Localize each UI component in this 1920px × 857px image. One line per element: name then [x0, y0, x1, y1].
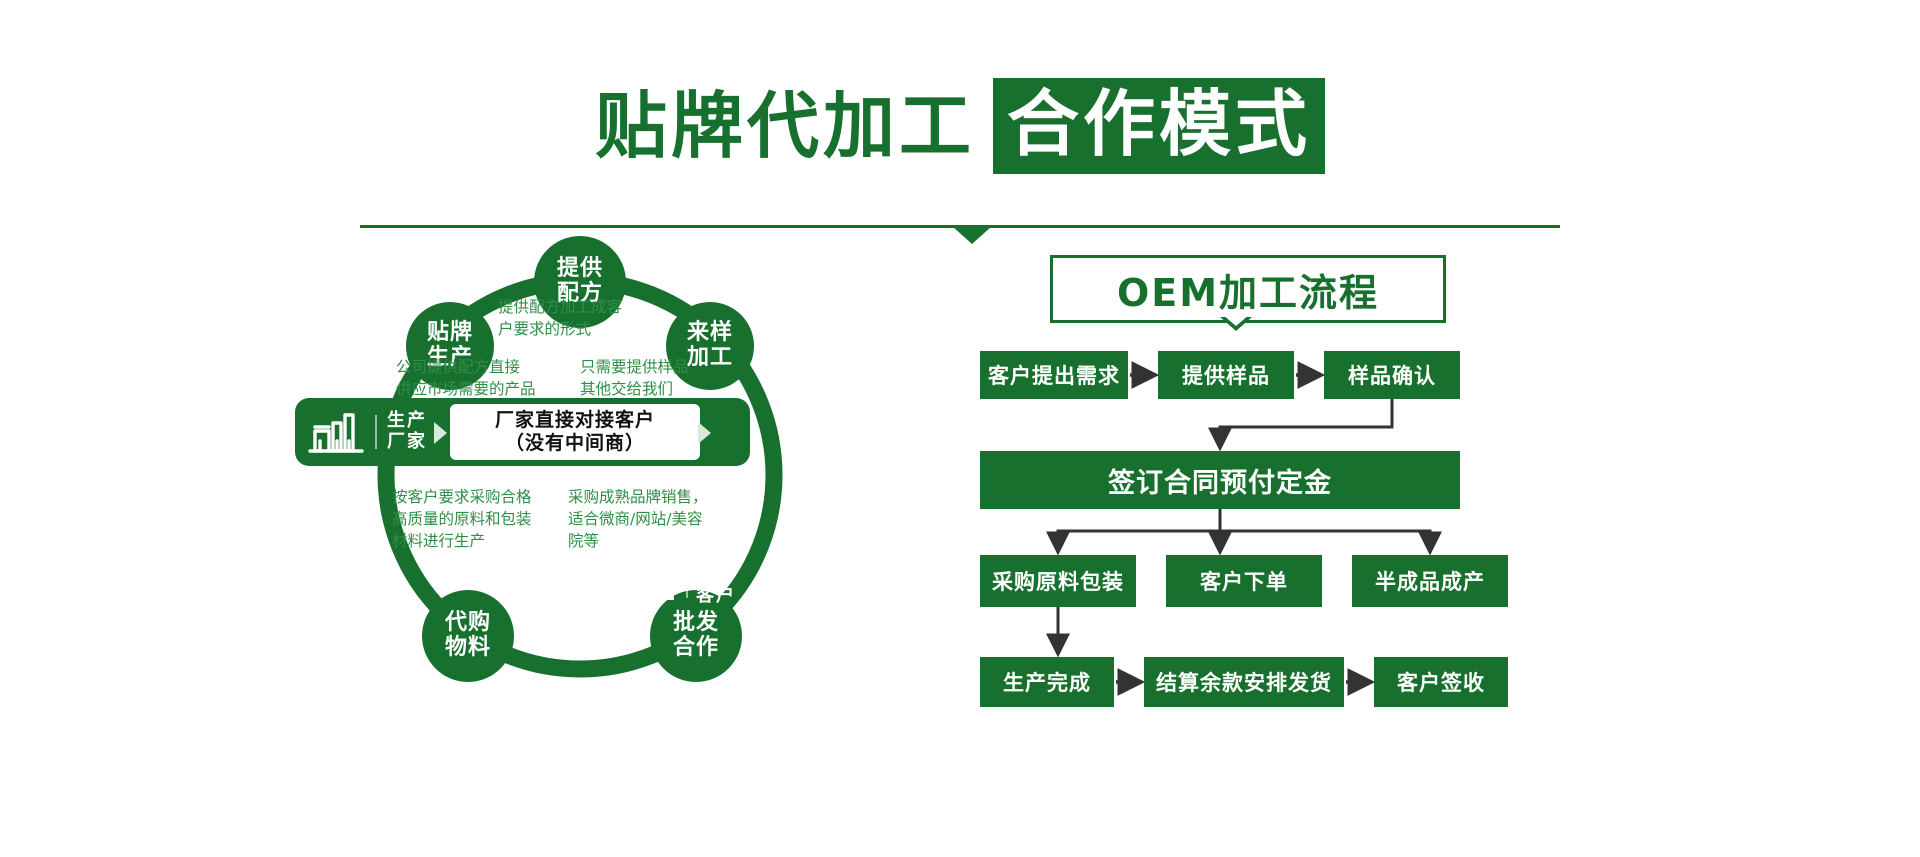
flow-box-customer-order[interactable]: 客户下单: [1166, 555, 1322, 607]
title-plain-text: 贴牌代加工: [595, 90, 975, 162]
customer-divider: [686, 564, 688, 598]
factory-label: 生产厂家: [387, 411, 427, 452]
center-sub-text: （没有中间商）: [505, 432, 645, 454]
circle-desc-top-right: 只需要提供样品 其他交给我们: [580, 356, 689, 400]
infographic-root: 贴牌代加工 合作模式 提供 配方 贴牌 生产 来样 加工 代购 物料 批发 合作: [0, 0, 1920, 857]
flow-box-sample-confirm[interactable]: 样品确认: [1324, 351, 1460, 399]
chevron-left-icon: [434, 422, 447, 444]
flow-box-sign-contract[interactable]: 签订合同预付定金: [980, 451, 1460, 509]
circle-node-top-right-line2: 加工: [687, 346, 733, 371]
flow-box-semi-finished[interactable]: 半成品成产: [1352, 555, 1508, 607]
center-callout: 厂家直接对接客户 （没有中间商）: [450, 404, 700, 460]
circle-desc-bottom-left: 按客户要求采购合格 高质量的原料和包装 材料进行生产: [392, 486, 532, 552]
title-boxed-text: 合作模式: [993, 78, 1325, 174]
divider-chevron-icon: [952, 226, 992, 244]
circle-node-bottom-left-line2: 物料: [445, 636, 491, 661]
circle-node-top-left-line1: 贴牌: [427, 321, 473, 346]
circle-desc-bottom-right: 采购成熟品牌销售， 适合微商/网站/美容 院等: [568, 486, 708, 552]
flowchart: OEM加工流程 客户提出需求: [980, 255, 1500, 785]
page-title: 贴牌代加工 合作模式: [0, 78, 1920, 174]
circle-node-top-right-line1: 来样: [687, 321, 733, 346]
circle-node-bottom-left-line1: 代购: [445, 611, 491, 636]
customers-icon: [626, 558, 676, 604]
flow-box-provide-sample[interactable]: 提供样品: [1158, 351, 1294, 399]
circle-node-bottom-right-line1: 批发: [673, 611, 719, 636]
circle-desc-top-left: 公司提供配方直接 供应市场需要的产品: [396, 356, 536, 400]
factory-divider: [375, 415, 377, 449]
chevron-right-icon: [698, 422, 711, 444]
circle-node-bottom-left[interactable]: 代购 物料: [422, 590, 514, 682]
customer-label: 合作客户: [696, 565, 736, 606]
circle-desc-top: 提供配方加工成客 户要求的形式: [498, 296, 622, 340]
center-callout-text: 厂家直接对接客户 （没有中间商）: [495, 409, 655, 455]
flow-box-customer-request[interactable]: 客户提出需求: [980, 351, 1128, 399]
flow-box-production-done[interactable]: 生产完成: [980, 657, 1114, 707]
flow-box-customer-receive[interactable]: 客户签收: [1374, 657, 1508, 707]
circular-diagram: 提供 配方 贴牌 生产 来样 加工 代购 物料 批发 合作 提供配方加工成客 户…: [330, 250, 890, 810]
circle-node-top-line1: 提供: [557, 257, 603, 282]
circle-node-bottom-right-line2: 合作: [673, 636, 719, 661]
center-main-text: 厂家直接对接客户: [495, 409, 655, 431]
factory-icon: [307, 409, 365, 455]
flow-box-purchase-materials[interactable]: 采购原料包装: [980, 555, 1136, 607]
flow-box-settle-and-ship[interactable]: 结算余款安排发货: [1144, 657, 1344, 707]
